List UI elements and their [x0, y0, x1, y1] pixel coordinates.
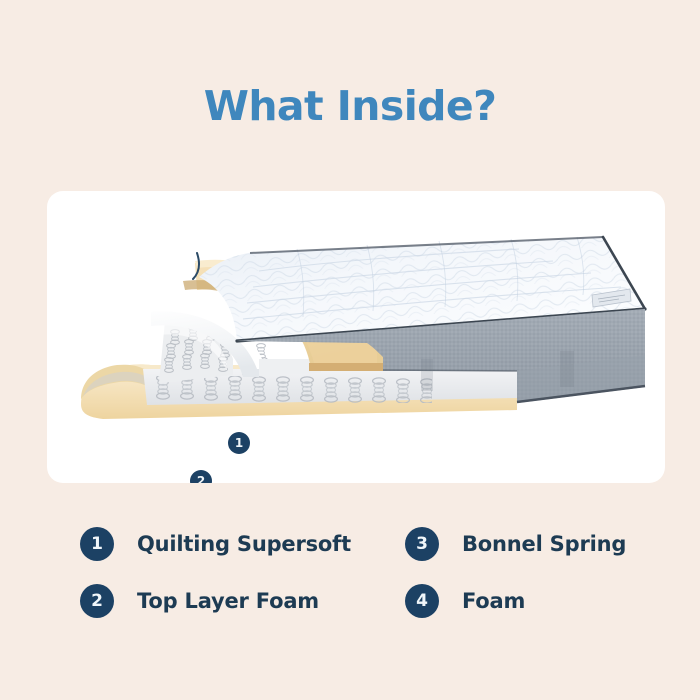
layer-legend: 1 Quilting Supersoft 2 Top Layer Foam 3 … — [60, 522, 660, 632]
infographic-stage: What Inside? — [0, 0, 700, 700]
legend-item-quilting-supersoft[interactable]: 1 Quilting Supersoft — [80, 527, 351, 561]
mattress-cutaway-illustration — [47, 191, 665, 483]
legend-badge-3: 3 — [405, 527, 439, 561]
page-title: What Inside? — [0, 82, 700, 130]
legend-badge-2: 2 — [80, 584, 114, 618]
legend-badge-1: 1 — [80, 527, 114, 561]
illustration-marker-1[interactable]: 1 — [228, 432, 250, 454]
legend-badge-4: 4 — [405, 584, 439, 618]
legend-label-4: Foam — [462, 589, 525, 613]
legend-label-1: Quilting Supersoft — [137, 532, 351, 556]
legend-label-2: Top Layer Foam — [137, 589, 319, 613]
product-illustration-card: 1 2 3 4 — [47, 191, 665, 483]
legend-item-bonnel-spring[interactable]: 3 Bonnel Spring — [405, 527, 626, 561]
legend-item-top-layer-foam[interactable]: 2 Top Layer Foam — [80, 584, 319, 618]
legend-label-3: Bonnel Spring — [462, 532, 626, 556]
legend-item-foam[interactable]: 4 Foam — [405, 584, 525, 618]
